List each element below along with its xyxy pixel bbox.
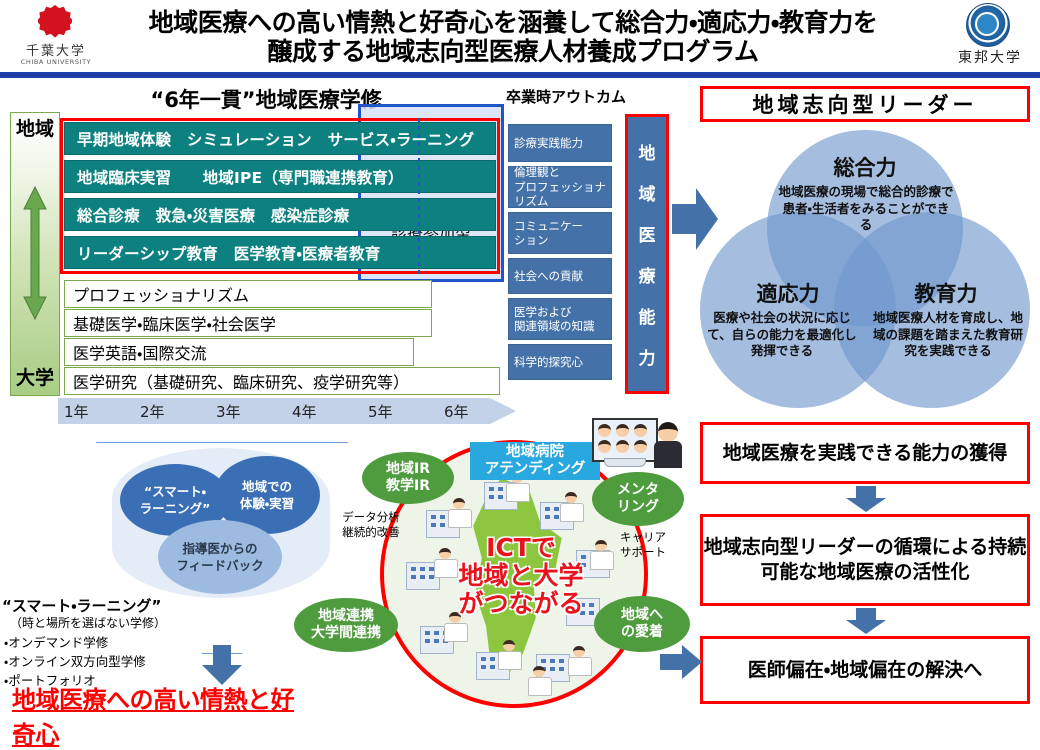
down-arrow-icon <box>846 486 886 512</box>
list-item: ・オンライン双方向型学修 <box>4 653 219 672</box>
chiba-university-logo: 千葉大学 CHIBA UNIVERSITY <box>8 2 104 72</box>
ability-char: 地 <box>639 139 656 164</box>
phase-divider <box>418 118 420 274</box>
venn-body-adaptive: 医療や社会の状況に応じて、自らの能力を最適化し発揮できる <box>706 310 858 360</box>
year-label: 6年 <box>444 401 469 422</box>
ict-center-text: ICTで 地域と大学 がつながる <box>426 534 616 618</box>
curriculum-teal-row: 地域臨床実習 地域IPE（専門職連携教育） <box>64 160 496 193</box>
right-arrow-icon <box>660 645 702 679</box>
year-timeline: 1年 2年 3年 4年 5年 6年 <box>58 398 518 424</box>
doctor-icon <box>446 498 472 528</box>
leader-title-box: 地域志向型リーダー <box>700 86 1030 122</box>
page-title-line1: 地域医療への高い情熱と好奇心を涵養して総合力・適応力・教育力を <box>149 8 878 38</box>
attending-badge: 地域病院 アテンディング <box>470 442 600 480</box>
year-label: 5年 <box>368 401 393 422</box>
doctor-icon <box>566 646 592 676</box>
competency-venn-diagram: 総合力 地域医療の現場で総合的診療で患者・生活者をみることができる 適応力 医療… <box>700 130 1030 410</box>
result-box: 地域医療を実践できる能力の獲得 <box>700 422 1030 484</box>
outcome-item: 科学的探究心 <box>508 344 612 380</box>
ability-char: 域 <box>639 180 656 205</box>
curriculum-base-row: 医学研究（基礎研究、臨床研究、疫学研究等） <box>64 367 500 395</box>
regional-medicine-ability-column: 地 域 医 療 能 力 <box>625 114 669 394</box>
outcome-item: コミュニケー ション <box>508 212 612 254</box>
green-label-attachment: 地域へ の愛着 <box>594 596 690 652</box>
outcome-item: 診療実践能力 <box>508 124 612 162</box>
curriculum-base-row: プロフェッショナリズム <box>64 280 432 308</box>
telemedicine-illustration <box>592 418 684 472</box>
chiba-logo-name: 千葉大学 <box>8 40 104 59</box>
curriculum-teal-row: 総合診療 救急・災害医療 感染症診療 <box>64 198 496 231</box>
toho-seal-inner-icon <box>975 12 999 36</box>
ability-char: 能 <box>639 303 656 328</box>
venn-head-comprehensive: 総合力 <box>785 152 945 182</box>
monitor-stand-icon <box>604 458 646 467</box>
ict-line2: 地域と大学 <box>426 562 616 590</box>
axis-label-region: 地域 <box>11 119 59 140</box>
venn-head-educational: 教育力 <box>870 278 1022 308</box>
career-support-note: キャリア サポート <box>620 530 682 560</box>
monitor-icon <box>592 418 658 462</box>
header-divider <box>0 72 1040 78</box>
attending-line2: アテンディング <box>485 461 585 478</box>
double-arrow-icon <box>23 185 47 321</box>
passion-statement: 地域医療への高い情熱と好奇心 <box>12 680 312 750</box>
venn-body-educational: 地域医療人材を育成し、地域の課題を踏まえた教育研究を実践できる <box>872 310 1024 360</box>
curriculum-teal-row: リーダーシップ教育 医学教育・医療者教育 <box>64 236 496 269</box>
result-box: 地域志向型リーダーの循環による持続可能な地域医療の活性化 <box>700 514 1030 606</box>
outcomes-title: 卒業時アウトカム <box>496 86 636 107</box>
region-university-axis: 地域 大学 <box>10 112 60 396</box>
toho-university-logo: 東邦大学 <box>944 2 1036 72</box>
result-box: 医師偏在・地域偏在の解決へ <box>700 636 1030 704</box>
year-label: 2年 <box>140 401 165 422</box>
axis-label-university: 大学 <box>11 368 59 389</box>
year-timeline-arrow-icon <box>490 398 516 424</box>
chiba-logo-subtitle: CHIBA UNIVERSITY <box>8 58 104 66</box>
ict-line1: ICTで <box>426 534 616 562</box>
venn-body-comprehensive: 地域医療の現場で総合的診療で患者・生活者をみることができる <box>778 184 954 234</box>
ability-char: 療 <box>639 262 656 287</box>
page-title-line2: 醸成する地域志向型医療人材養成プログラム <box>149 37 878 67</box>
curriculum-base-row: 医学英語・国際交流 <box>64 338 414 366</box>
outcome-item: 倫理観と プロフェッショナリズム <box>508 166 612 208</box>
doctor-icon <box>496 640 522 670</box>
venn-head-adaptive: 適応力 <box>712 278 864 308</box>
ability-char: 力 <box>639 344 656 369</box>
list-item: ・オンデマンド学修 <box>4 634 219 653</box>
data-analysis-note: データ分析 継続的改善 <box>325 510 417 540</box>
attending-line1: 地域病院 <box>485 444 585 461</box>
smart-learning-label: “スマート・ラーニング” <box>2 595 202 616</box>
person-icon <box>654 422 682 468</box>
outcome-item: 社会への貢献 <box>508 258 612 294</box>
doctor-icon <box>526 666 552 696</box>
green-label-ir: 地域IR 教学IR <box>362 452 454 504</box>
ability-char: 医 <box>639 221 656 246</box>
page-header: 千葉大学 CHIBA UNIVERSITY 地域医療への高い情熱と好奇心を涵養し… <box>0 0 1040 78</box>
green-label-mentoring: メンタ リング <box>592 472 684 526</box>
year-label: 3年 <box>216 401 241 422</box>
year-timeline-body <box>58 398 490 424</box>
green-label-collaboration: 地域連携 大学間連携 <box>294 598 398 652</box>
down-arrow-icon <box>202 645 242 685</box>
funnel-ellipse-feedback: 指導医からの フィードバック <box>158 520 282 594</box>
doctor-icon <box>558 492 584 522</box>
curriculum-base-row: 基礎医学・臨床医学・社会医学 <box>64 309 432 337</box>
ict-line3: がつながる <box>426 590 616 618</box>
page-title: 地域医療への高い情熱と好奇心を涵養して総合力・適応力・教育力を 醸成する地域志向… <box>108 2 918 72</box>
year-label: 4年 <box>292 401 317 422</box>
year-label: 1年 <box>64 401 89 422</box>
chiba-flower-icon <box>38 5 72 39</box>
outcome-item: 医学および 関連領域の知識 <box>508 298 612 340</box>
toho-logo-name: 東邦大学 <box>944 47 1036 67</box>
down-arrow-icon <box>846 608 886 634</box>
curriculum-teal-row: 早期地域体験 シミュレーション サービス・ラーニング <box>64 122 496 155</box>
smart-learning-sublabel: （時と場所を選ばない学修） <box>10 614 210 631</box>
